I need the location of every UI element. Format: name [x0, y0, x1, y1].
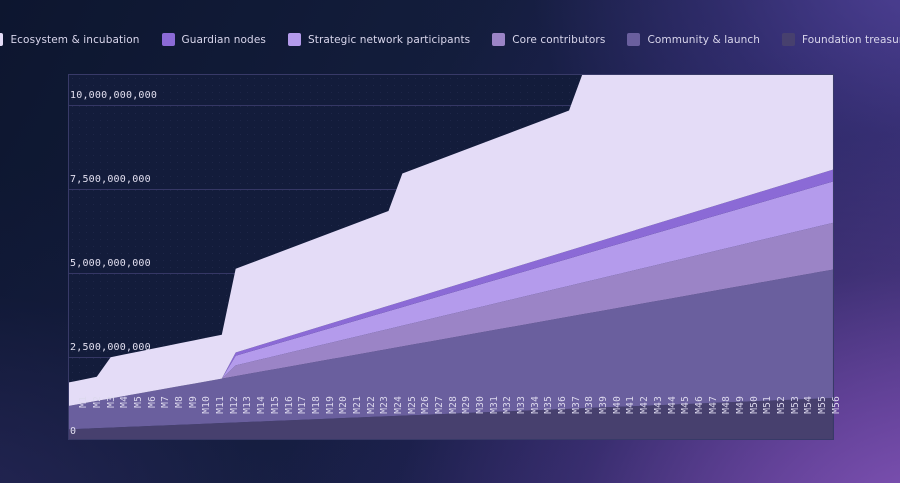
legend-item-label: Ecosystem & incubation — [10, 34, 139, 46]
legend-item[interactable]: Ecosystem & incubation — [0, 33, 140, 46]
legend-swatch-icon — [162, 33, 175, 46]
legend-item[interactable]: Foundation treasury — [782, 33, 900, 46]
stacked-area-chart — [69, 75, 833, 440]
legend-item-label: Strategic network participants — [308, 34, 470, 46]
legend-swatch-icon — [0, 33, 3, 46]
legend-swatch-icon — [782, 33, 795, 46]
legend-item-label: Community & launch — [647, 34, 760, 46]
chart-legend: Ecosystem & incubationGuardian nodesStra… — [0, 33, 900, 46]
legend-item-label: Core contributors — [512, 34, 605, 46]
legend-swatch-icon — [627, 33, 640, 46]
legend-item[interactable]: Core contributors — [492, 33, 605, 46]
legend-swatch-icon — [288, 33, 301, 46]
plot-area — [68, 74, 834, 440]
legend-item[interactable]: Community & launch — [627, 33, 760, 46]
legend-item-label: Foundation treasury — [802, 34, 900, 46]
legend-item[interactable]: Strategic network participants — [288, 33, 470, 46]
legend-item[interactable]: Guardian nodes — [162, 33, 266, 46]
chart-page: Ecosystem & incubationGuardian nodesStra… — [0, 0, 900, 483]
plot-inner — [69, 75, 833, 439]
legend-swatch-icon — [492, 33, 505, 46]
legend-item-label: Guardian nodes — [182, 34, 266, 46]
